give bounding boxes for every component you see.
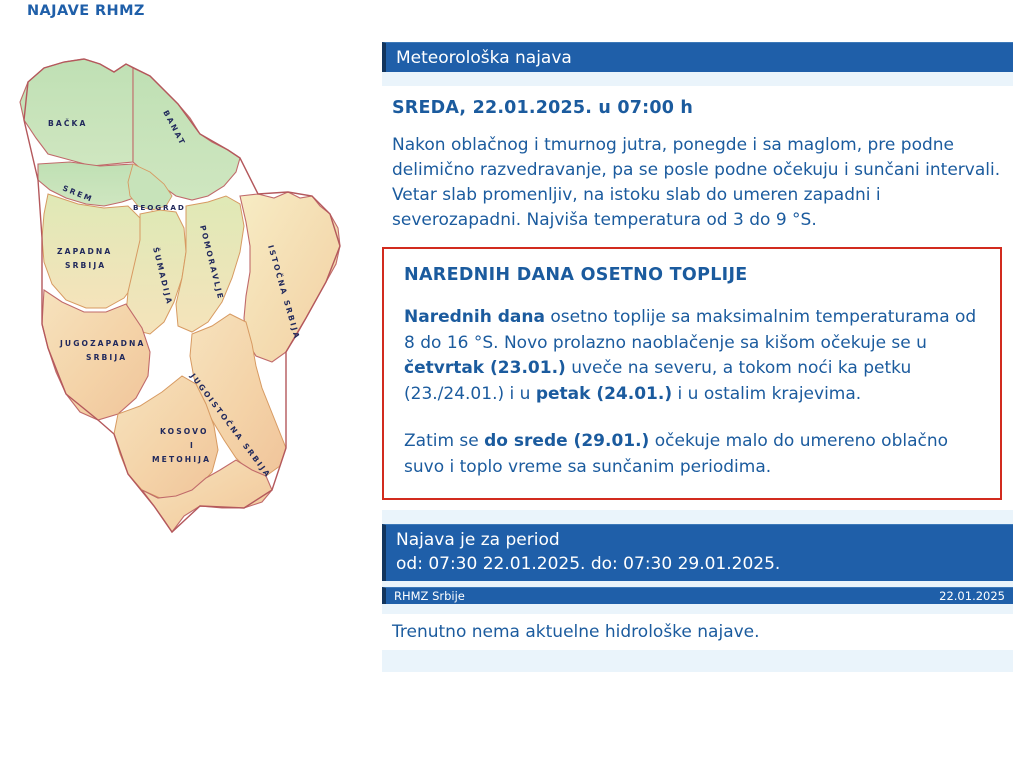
map-label-backa: BAČKA bbox=[48, 119, 88, 128]
map-label-zapadna-srbija-line2: SRBIJA bbox=[65, 261, 106, 270]
map-label-kosovo-i-metohija-line1: KOSOVO bbox=[160, 427, 209, 436]
map-svg: BAČKA BANAT SREM BEOGRAD ZAPADNA SRBIJA … bbox=[0, 46, 372, 591]
band-below-credit bbox=[382, 604, 1013, 614]
alert-heading: NAREDNIH DANA OSETNO TOPLIJE bbox=[404, 265, 982, 285]
map-label-kosovo-i-metohija-line2: I bbox=[190, 441, 195, 450]
credit-bar: RHMZ Srbije 22.01.2025 bbox=[382, 587, 1013, 604]
page-root: NAJAVE RHMZ bbox=[0, 0, 1024, 769]
alert-p2-bold-1: do srede (29.01.) bbox=[484, 431, 649, 451]
map-label-jugozapadna-srbija-line1: JUGOZAPADNA bbox=[59, 339, 145, 348]
alert-box: NAREDNIH DANA OSETNO TOPLIJE Narednih da… bbox=[382, 247, 1002, 500]
band-below-header bbox=[382, 72, 1013, 86]
period-bar: Najava je za period od: 07:30 22.01.2025… bbox=[382, 524, 1013, 581]
alert-wrapper: NAREDNIH DANA OSETNO TOPLIJE Narednih da… bbox=[382, 233, 1013, 510]
forecast-panel: Meteorološka najava SREDA, 22.01.2025. u… bbox=[382, 42, 1014, 672]
map-label-beograd: BEOGRAD bbox=[133, 203, 186, 212]
region-istocna-srbija bbox=[240, 192, 340, 362]
serbia-regions-map: BAČKA BANAT SREM BEOGRAD ZAPADNA SRBIJA … bbox=[0, 46, 372, 591]
period-title: Najava je za period bbox=[396, 528, 1013, 552]
credit-date: 22.01.2025 bbox=[939, 588, 1005, 605]
forecast-text-block: SREDA, 22.01.2025. u 07:00 h Nakon oblač… bbox=[382, 86, 1013, 233]
forecast-header-bar: Meteorološka najava bbox=[382, 42, 1013, 72]
alert-paragraph-1: Narednih dana osetno toplije sa maksimal… bbox=[404, 305, 982, 407]
forecast-header-label: Meteorološka najava bbox=[396, 48, 572, 68]
forecast-body: Nakon oblačnog i tmurnog jutra, ponegde … bbox=[392, 133, 1013, 233]
map-label-jugozapadna-srbija-line2: SRBIJA bbox=[86, 353, 127, 362]
alert-p1-bold-2: četvrtak (23.01.) bbox=[404, 358, 566, 378]
alert-p1-bold-3: petak (24.01.) bbox=[536, 384, 672, 404]
alert-paragraph-2: Zatim se do srede (29.01.) očekuje malo … bbox=[404, 429, 982, 480]
band-above-period bbox=[382, 510, 1013, 524]
map-label-zapadna-srbija-line1: ZAPADNA bbox=[57, 247, 112, 256]
hydro-message: Trenutno nema aktuelne hidrološke najave… bbox=[382, 614, 1013, 650]
band-footer bbox=[382, 650, 1013, 672]
page-title: NAJAVE RHMZ bbox=[27, 3, 145, 19]
alert-p2-text-1: Zatim se bbox=[404, 431, 484, 451]
alert-p1-text-3: i u ostalim krajevima. bbox=[672, 384, 861, 404]
map-label-kosovo-i-metohija-line3: METOHIJA bbox=[152, 455, 211, 464]
credit-source: RHMZ Srbije bbox=[394, 588, 465, 605]
period-range: od: 07:30 22.01.2025. do: 07:30 29.01.20… bbox=[396, 552, 1013, 576]
alert-p1-bold-1: Narednih dana bbox=[404, 307, 545, 327]
forecast-day-line: SREDA, 22.01.2025. u 07:00 h bbox=[392, 96, 1013, 121]
